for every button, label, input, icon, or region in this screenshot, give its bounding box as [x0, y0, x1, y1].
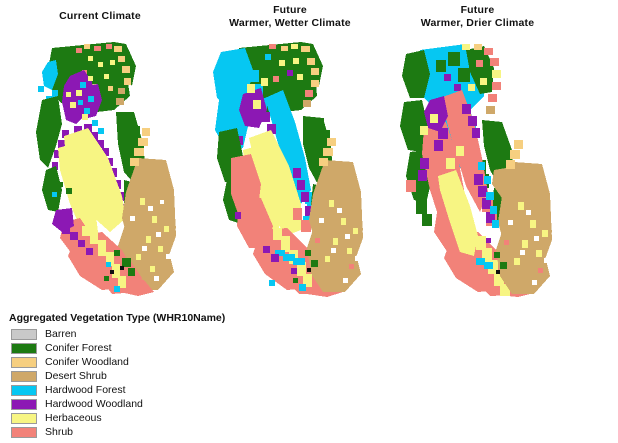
legend-item-shrub: Shrub: [7, 425, 267, 439]
legend-item-hardwood-woodland: Hardwood Woodland: [7, 397, 267, 411]
legend-label-hardwood-woodland: Hardwood Woodland: [45, 398, 143, 410]
legend-item-herbaceous: Herbaceous: [7, 411, 267, 425]
panel-title-current: Current Climate: [0, 10, 200, 23]
legend-swatch-conifer-forest: [11, 343, 37, 354]
legend-swatch-barren: [11, 329, 37, 340]
legend-swatch-conifer-woodland: [11, 357, 37, 368]
figure-canvas: Current Climate: [0, 0, 618, 443]
legend-item-hardwood-forest: Hardwood Forest: [7, 383, 267, 397]
legend-item-barren: Barren: [7, 327, 267, 341]
legend-label-desert-shrub: Desert Shrub: [45, 370, 107, 382]
map-image-warmer-drier: [390, 40, 556, 298]
legend-title: Aggregated Vegetation Type (WHR10Name): [9, 312, 267, 324]
legend: Aggregated Vegetation Type (WHR10Name) B…: [7, 312, 267, 439]
map-image-warmer-wetter: [205, 40, 367, 298]
legend-swatch-herbaceous: [11, 413, 37, 424]
legend-label-shrub: Shrub: [45, 426, 73, 438]
legend-swatch-shrub: [11, 427, 37, 438]
legend-label-hardwood-forest: Hardwood Forest: [45, 384, 126, 396]
legend-label-conifer-forest: Conifer Forest: [45, 342, 112, 354]
legend-item-conifer-forest: Conifer Forest: [7, 341, 267, 355]
legend-label-barren: Barren: [45, 328, 77, 340]
legend-item-desert-shrub: Desert Shrub: [7, 369, 267, 383]
legend-label-herbaceous: Herbaceous: [45, 412, 102, 424]
panel-title-warmer-drier: Future Warmer, Drier Climate: [370, 4, 585, 29]
legend-item-conifer-woodland: Conifer Woodland: [7, 355, 267, 369]
legend-swatch-hardwood-woodland: [11, 399, 37, 410]
legend-label-conifer-woodland: Conifer Woodland: [45, 356, 129, 368]
legend-swatch-hardwood-forest: [11, 385, 37, 396]
map-image-current: [18, 40, 180, 298]
panel-title-warmer-wetter: Future Warmer, Wetter Climate: [185, 4, 395, 29]
legend-swatch-desert-shrub: [11, 371, 37, 382]
